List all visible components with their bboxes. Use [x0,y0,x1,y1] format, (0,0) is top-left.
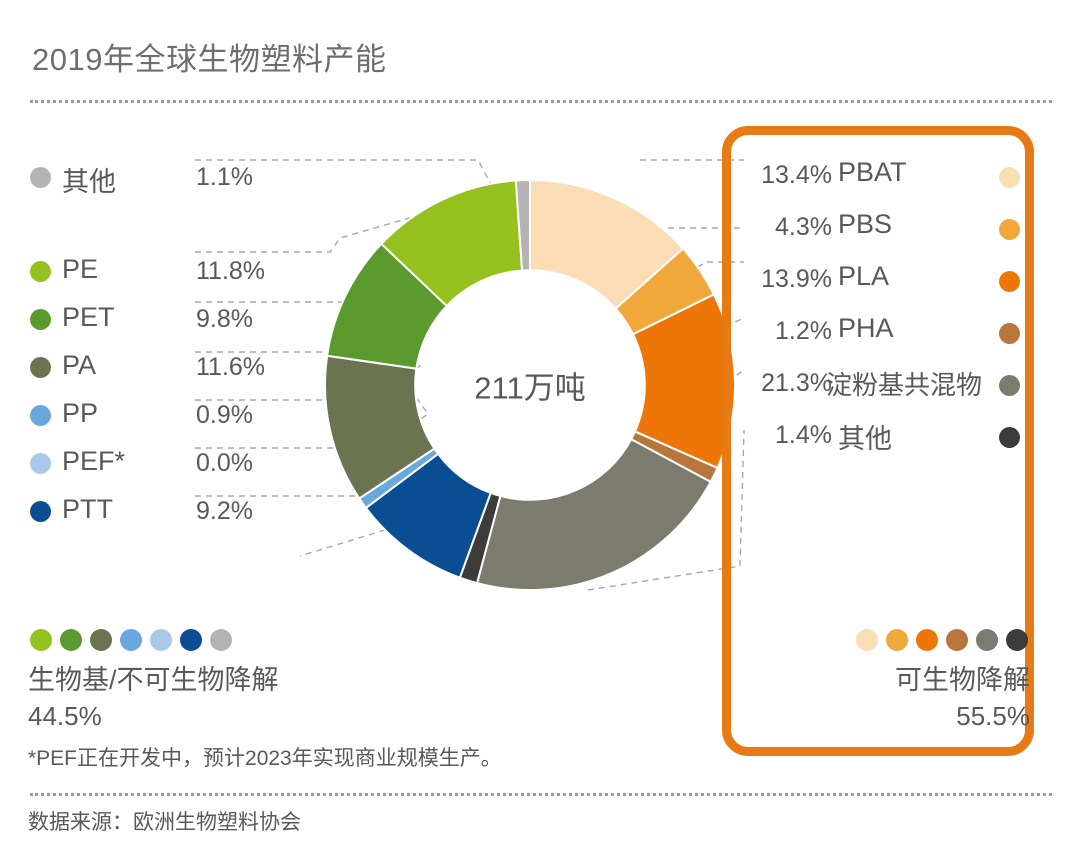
donut-chart: 211万吨 [320,175,740,595]
legend-item-pbat[interactable]: 13.4% PBAT [736,156,1028,208]
legend-item-percent: 1.4% [775,421,832,450]
legend-item-pef[interactable]: PEF* 0.0% [28,444,328,492]
footnote: *PEF正在开发中，预计2023年实现商业规模生产。 [28,742,502,772]
legend-item-other[interactable]: 其他 1.1% [28,158,328,206]
legend-item-pa[interactable]: PA 11.6% [28,348,328,396]
summary-label: 可生物降解 [895,663,1030,699]
legend-color-dot [30,167,51,188]
legend-color-dot [30,405,51,426]
summary-swatch [886,629,908,651]
divider-top [30,100,1052,106]
legend-item-pla[interactable]: 13.9% PLA [736,260,1028,312]
legend-item-label: PA [62,350,96,381]
legend-color-dot [30,309,51,330]
page-title: 2019年全球生物塑料产能 [32,34,386,79]
summary-swatch [856,629,878,651]
legend-item-percent: 9.8% [196,305,253,334]
divider-bottom [30,793,1052,799]
summary-left-swatches [30,629,232,651]
summary-swatch [30,629,52,651]
legend-item-label: PEF* [62,446,125,477]
legend-item-label: PBS [838,209,892,240]
legend-item-pp[interactable]: PP 0.9% [28,396,328,444]
summary-swatch [180,629,202,651]
legend-item-pha[interactable]: 1.2% PHA [736,312,1028,364]
legend-item-label: PLA [838,261,889,292]
legend-item-percent: 11.8% [196,257,265,286]
legend-item-pe[interactable]: PE 11.8% [28,252,328,300]
legend-item-label: PE [62,254,98,285]
summary-biodegradable: 可生物降解 55.5% [895,663,1030,733]
summary-swatch [976,629,998,651]
summary-right-swatches [856,629,1028,651]
legend-item-label: PHA [838,313,894,344]
summary-swatch [210,629,232,651]
source-note: 数据来源：欧洲生物塑料协会 [28,806,301,836]
legend-color-dot [999,375,1020,396]
chart-page: 2019年全球生物塑料产能 其他 1.1% [0,0,1080,864]
legend-item-label: PP [62,398,98,429]
legend-item-label: 其他 [838,417,892,456]
legend-item-percent: 13.4% [761,161,832,190]
legend-item-percent: 9.2% [196,497,253,526]
legend-item-label: 其他 [62,160,116,199]
legend-item-label: PET [62,302,115,333]
summary-swatch [1006,629,1028,651]
summary-label: 生物基/不可生物降解 [28,663,279,699]
legend-item-percent: 1.1% [196,163,253,192]
summary-swatch [946,629,968,651]
legend-item-pbs[interactable]: 4.3% PBS [736,208,1028,260]
legend-color-dot [999,219,1020,240]
summary-bio-based: 生物基/不可生物降解 44.5% [28,663,279,733]
legend-color-dot [999,271,1020,292]
legend-item-percent: 11.6% [196,353,265,382]
summary-swatch [916,629,938,651]
donut-svg [320,175,740,595]
legend-color-dot [30,261,51,282]
summary-swatch [150,629,172,651]
legend-item-percent: 4.3% [775,213,832,242]
legend-color-dot [999,167,1020,188]
right-legend: 13.4% PBAT 4.3% PBS 13.9% PLA 1.2% PHA 2… [736,156,1028,468]
summary-swatch [90,629,112,651]
legend-item-percent: 1.2% [775,317,832,346]
legend-item-percent: 13.9% [761,265,832,294]
legend-item-percent: 0.0% [196,449,253,478]
legend-item-label: PTT [62,494,113,525]
legend-spacer [28,206,328,252]
legend-color-dot [999,427,1020,448]
legend-item-percent: 0.9% [196,401,253,430]
legend-item-percent: 21.3% [761,369,832,398]
legend-item-label: PBAT [838,157,907,188]
legend-color-dot [999,323,1020,344]
legend-item-pet[interactable]: PET 9.8% [28,300,328,348]
summary-value: 44.5% [28,699,279,733]
summary-swatch [60,629,82,651]
summary-value: 55.5% [895,699,1030,733]
legend-color-dot [30,357,51,378]
legend-item-other-biodegradable[interactable]: 1.4% 其他 [736,416,1028,468]
legend-item-ptt[interactable]: PTT 9.2% [28,492,328,540]
summary-swatch [120,629,142,651]
legend-item-label: 淀粉基共混物 [826,365,982,402]
legend-color-dot [30,501,51,522]
left-legend: 其他 1.1% PE 11.8% PET 9.8% PA 11.6% PP 0.… [28,158,328,540]
legend-item-starch-blends[interactable]: 21.3% 淀粉基共混物 [736,364,1028,416]
legend-color-dot [30,453,51,474]
